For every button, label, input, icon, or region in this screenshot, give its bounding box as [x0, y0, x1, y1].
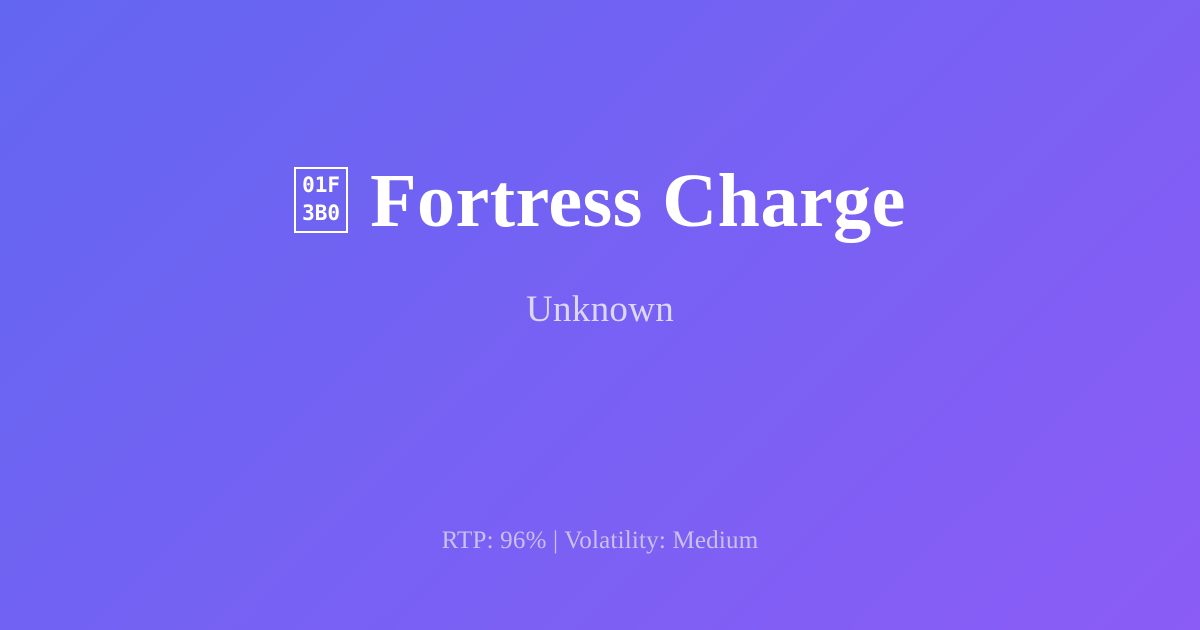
tofu-codepoint-bottom: 3B0 — [302, 200, 340, 228]
og-preview-card: 01F 3B0 Fortress Charge Unknown RTP: 96%… — [0, 0, 1200, 630]
game-stats-line: RTP: 96% | Volatility: Medium — [0, 526, 1200, 556]
title-row: 01F 3B0 Fortress Charge — [60, 160, 1140, 244]
page-subtitle: Unknown — [526, 288, 674, 332]
tofu-codepoint-top: 01F — [302, 172, 340, 200]
page-title: Fortress Charge — [370, 160, 906, 244]
slot-machine-icon: 01F 3B0 — [294, 167, 348, 233]
hero-section: 01F 3B0 Fortress Charge Unknown — [0, 0, 1200, 492]
